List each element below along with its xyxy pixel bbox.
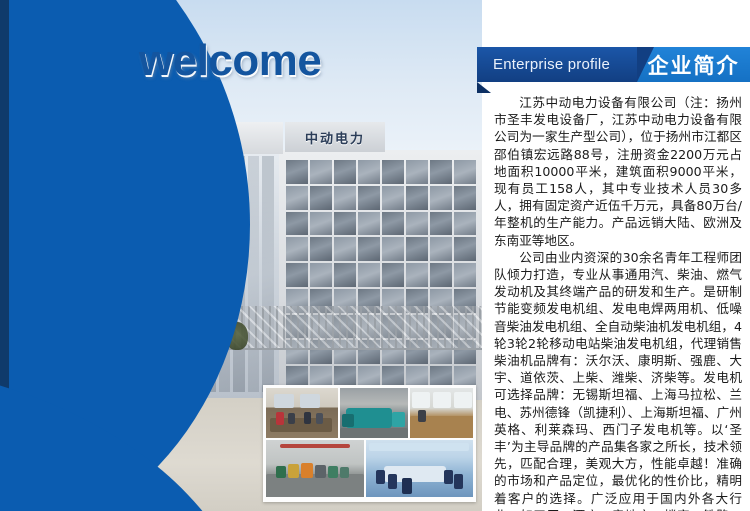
window-grid-right: [286, 160, 476, 390]
enterprise-profile-banner: Enterprise profile 企业简介: [477, 47, 750, 82]
photo-office-meeting: [266, 388, 338, 438]
collage-row-top: [266, 388, 473, 438]
company-profile-text: 江苏中动电力设备有限公司（注：扬州市圣丰发电设备厂，江苏中动电力设备有限公司为一…: [494, 94, 742, 511]
photo-generator-assembly: [340, 388, 408, 438]
photo-collage: [263, 385, 476, 502]
photo-conference-room: [366, 440, 473, 497]
right-text-panel: Enterprise profile 企业简介 江苏中动电力设备有限公司（注：扬…: [482, 0, 750, 511]
left-visual-panel: 中动电力 苏中动电力设备有限公司 Zhongdong Power Equipme…: [0, 0, 482, 511]
rooftop-company-sign: 中动电力: [285, 122, 385, 152]
banner-english-label: Enterprise profile: [477, 47, 637, 82]
profile-paragraph-1: 江苏中动电力设备有限公司（注：扬州市圣丰发电设备厂，江苏中动电力设备有限公司为一…: [494, 94, 742, 249]
welcome-heading: welcome: [139, 36, 321, 86]
profile-paragraph-2: 公司由业内资深的30余名青年工程师团队倾力打造，专业从事通用汽、柴油、燃气发动机…: [494, 249, 742, 511]
photo-workshop-line: [266, 440, 364, 497]
collage-row-bottom: [266, 440, 473, 497]
photo-sales-office: [410, 388, 473, 438]
company-profile-banner: 中动电力 苏中动电力设备有限公司 Zhongdong Power Equipme…: [0, 0, 750, 511]
banner-ribbon-tail: [477, 82, 491, 93]
